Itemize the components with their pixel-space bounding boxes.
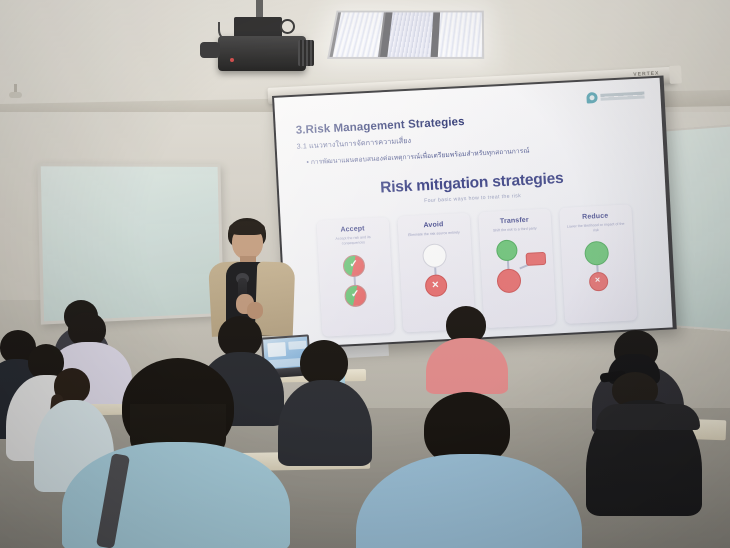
card-art-transfer <box>484 235 551 328</box>
card-description: Eliminate the risk source entirely <box>406 230 462 238</box>
card-title: Reduce <box>582 213 609 221</box>
strategy-card-reduce: Reduce Lower the likelihood or impact of… <box>559 204 637 324</box>
strategy-card-transfer: Transfer Shift the risk to a third party <box>478 209 556 329</box>
card-title: Transfer <box>500 217 529 225</box>
projector-lens-icon <box>200 42 220 58</box>
whiteboard-left <box>37 163 223 324</box>
company-logo-icon <box>586 90 644 104</box>
card-description: Lower the likelihood or impact of the ri… <box>565 222 627 236</box>
ceiling-projector <box>208 0 318 96</box>
strategy-card-accept: Accept Accept the risk and its consequen… <box>316 217 394 337</box>
card-description: Accept the risk and its consequences <box>322 234 384 248</box>
ceiling-light-panel <box>327 11 484 59</box>
classroom-photo: VERTEX 3.Risk Management Strategies 3.1 … <box>0 0 730 548</box>
card-description: Shift the risk to a third party <box>491 226 539 234</box>
card-title: Accept <box>340 225 365 233</box>
card-title: Avoid <box>423 221 443 229</box>
sprinkler-icon <box>8 84 24 100</box>
presenter <box>206 218 298 336</box>
card-art-reduce: ✕ <box>565 236 631 323</box>
card-art-accept: ✓ ✓ <box>323 249 389 336</box>
